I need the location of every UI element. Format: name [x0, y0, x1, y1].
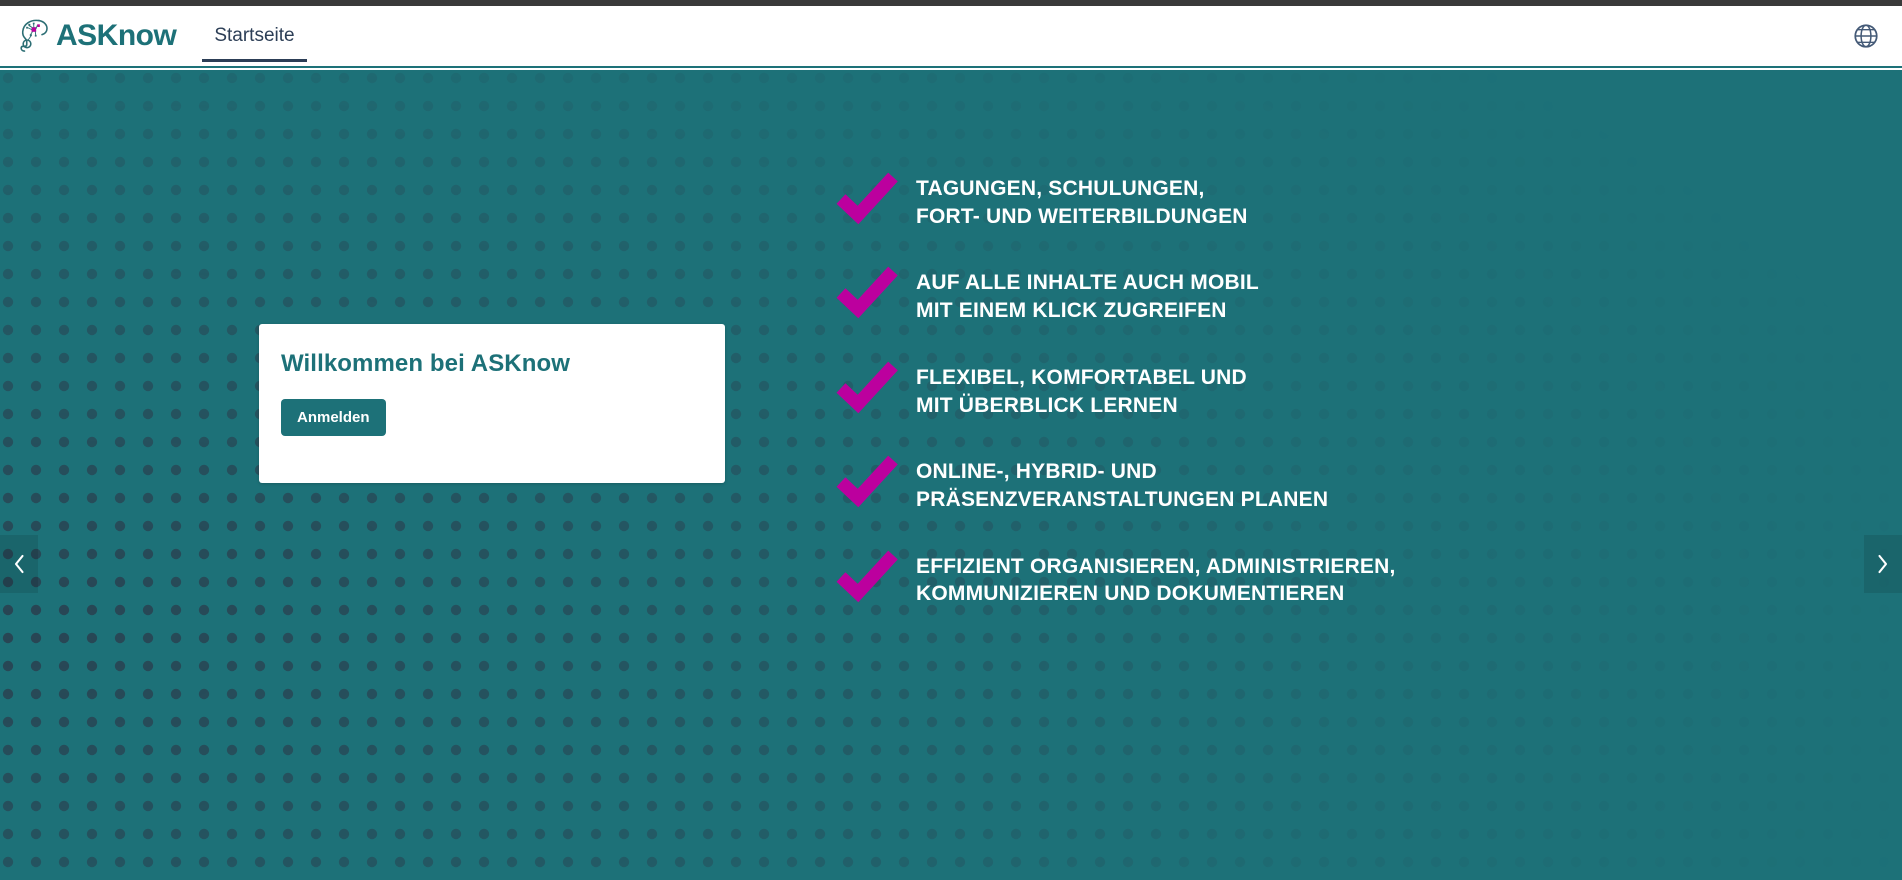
check-icon [836, 264, 898, 320]
feature-text: EFFIZIENT ORGANISIEREN, ADMINISTRIEREN, … [916, 553, 1396, 608]
app-header: ASKnow Startseite [0, 6, 1902, 68]
head-brain-network-icon [14, 16, 54, 56]
nav-item-startseite[interactable]: Startseite [202, 6, 306, 66]
nav-item-label: Startseite [214, 25, 294, 47]
welcome-card: Willkommen bei ASKnow Anmelden [259, 324, 725, 483]
chevron-left-icon [11, 553, 27, 575]
main-nav: Startseite [202, 6, 306, 66]
carousel-prev-button[interactable] [0, 535, 38, 593]
header-actions [1852, 22, 1880, 50]
feature-text: AUF ALLE INHALTE AUCH MOBIL MIT EINEM KL… [916, 269, 1259, 324]
feature-text: TAGUNGEN, SCHULUNGEN, FORT- UND WEITERBI… [916, 175, 1248, 230]
feature-item: AUF ALLE INHALTE AUCH MOBIL MIT EINEM KL… [836, 264, 1736, 324]
check-icon [836, 453, 898, 509]
check-icon [836, 548, 898, 604]
chevron-right-icon [1875, 553, 1891, 575]
globe-icon[interactable] [1852, 22, 1880, 50]
check-icon [836, 170, 898, 226]
check-icon [836, 359, 898, 415]
brand-name: ASKnow [56, 19, 176, 53]
feature-text: FLEXIBEL, KOMFORTABEL UND MIT ÜBERBLICK … [916, 364, 1247, 419]
feature-item: EFFIZIENT ORGANISIEREN, ADMINISTRIEREN, … [836, 548, 1736, 608]
carousel-next-button[interactable] [1864, 535, 1902, 593]
feature-item: ONLINE-, HYBRID- UND PRÄSENZVERANSTALTUN… [836, 453, 1736, 513]
feature-text: ONLINE-, HYBRID- UND PRÄSENZVERANSTALTUN… [916, 458, 1328, 513]
feature-item: FLEXIBEL, KOMFORTABEL UND MIT ÜBERBLICK … [836, 359, 1736, 419]
brand-logo[interactable]: ASKnow [14, 6, 176, 66]
welcome-title: Willkommen bei ASKnow [281, 350, 703, 378]
login-button[interactable]: Anmelden [281, 399, 386, 436]
feature-item: TAGUNGEN, SCHULUNGEN, FORT- UND WEITERBI… [836, 170, 1736, 230]
hero-banner: Willkommen bei ASKnow Anmelden TAGUNGEN,… [0, 70, 1902, 880]
feature-list: TAGUNGEN, SCHULUNGEN, FORT- UND WEITERBI… [836, 170, 1736, 642]
